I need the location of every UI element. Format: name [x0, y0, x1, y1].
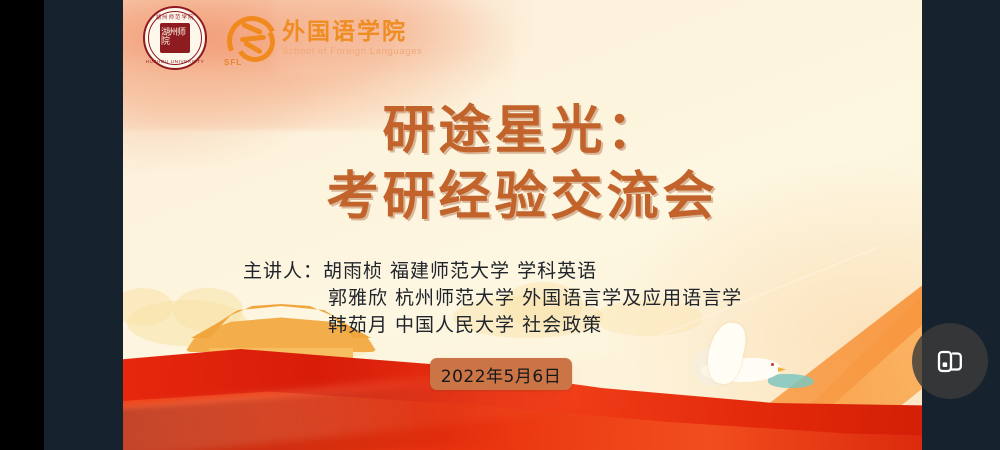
- speaker-line-3: 韩茹月 中国人民大学 社会政策: [243, 312, 742, 339]
- huzhou-university-seal-icon: 湖州师范学院 湖州师院 1916 HUZHOU UNIVERSITY: [143, 6, 207, 70]
- title-line-2: 考研经验交流会: [123, 164, 922, 230]
- player-outer-black-bar: [0, 0, 44, 450]
- date-badge: 2022年5月6日: [430, 358, 572, 390]
- sfl-swirl-icon: SFL: [223, 12, 275, 64]
- video-player-screen: 湖州师范学院 湖州师院 1916 HUZHOU UNIVERSITY SFL 外…: [0, 0, 1000, 450]
- speaker-line-2: 郭雅欣 杭州师范大学 外国语言学及应用语言学: [243, 285, 742, 312]
- seal-english-text: HUZHOU UNIVERSITY: [145, 59, 205, 64]
- presentation-slide[interactable]: 湖州师范学院 湖州师院 1916 HUZHOU UNIVERSITY SFL 外…: [123, 0, 922, 450]
- school-name-english: School of Foreign Languages: [282, 46, 422, 57]
- sfl-abbreviation: SFL: [224, 58, 242, 67]
- school-of-foreign-languages-logo: SFL 外国语学院 School of Foreign Languages: [223, 12, 422, 64]
- speaker-line-1: 主讲人：胡雨桢 福建师范大学 学科英语: [243, 258, 742, 285]
- cast-to-device-button[interactable]: [912, 323, 988, 399]
- cast-to-device-icon: [933, 344, 967, 378]
- school-name-chinese: 外国语学院: [282, 19, 422, 45]
- seal-year: 1916: [145, 49, 205, 55]
- seal-top-text: 湖州师范学院: [145, 13, 205, 21]
- slide-title: 研途星光： 考研经验交流会: [123, 98, 922, 230]
- logo-row: 湖州师范学院 湖州师院 1916 HUZHOU UNIVERSITY SFL 外…: [143, 6, 422, 70]
- title-line-1: 研途星光：: [123, 98, 922, 164]
- speaker-list: 主讲人：胡雨桢 福建师范大学 学科英语 郭雅欣 杭州师范大学 外国语言学及应用语…: [243, 258, 742, 339]
